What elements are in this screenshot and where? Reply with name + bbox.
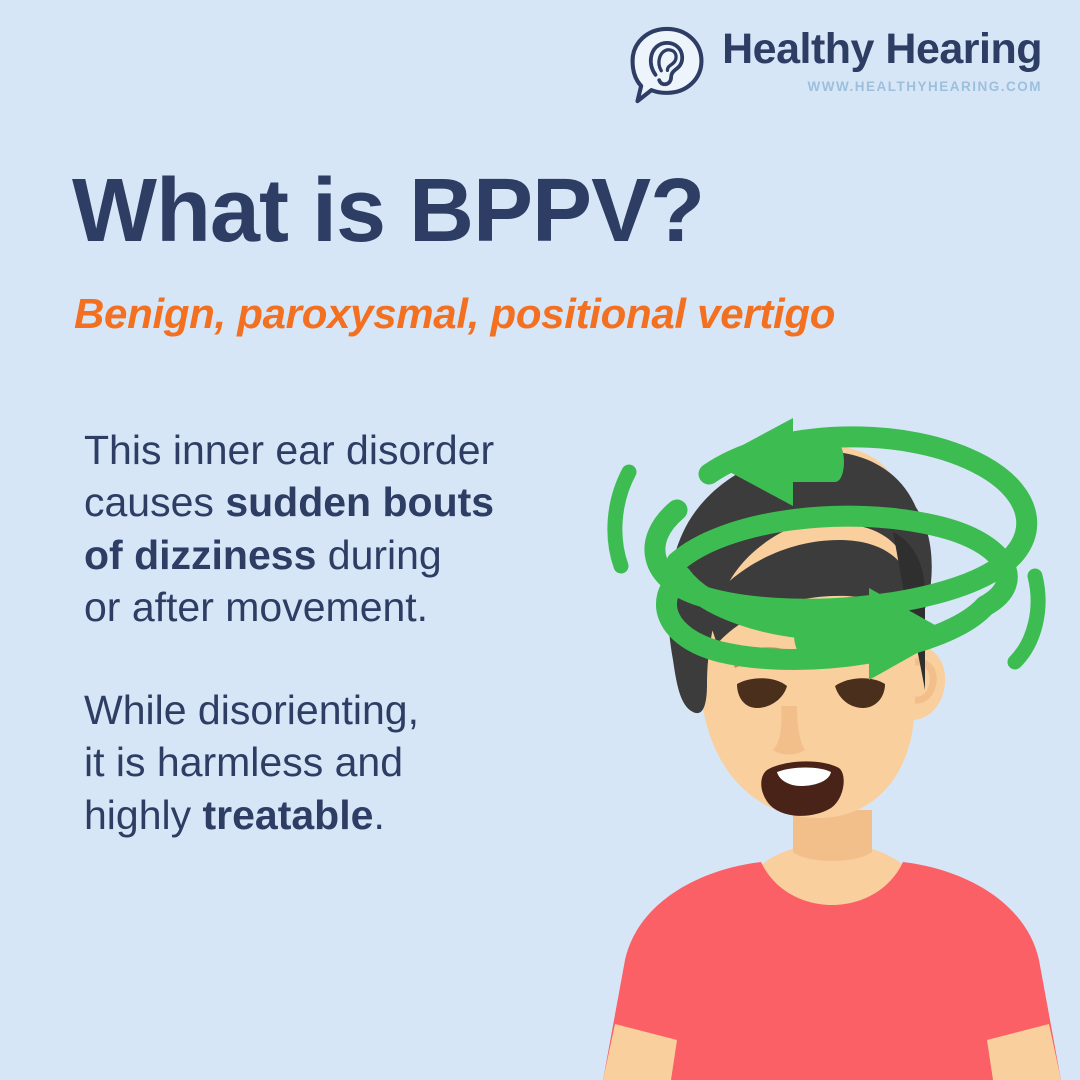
motion-mark-right bbox=[1015, 576, 1038, 662]
page-subtitle: Benign, paroxysmal, positional vertigo bbox=[74, 293, 835, 335]
p2-after: . bbox=[373, 792, 384, 838]
brand-url: WWW.HEALTHYHEARING.COM bbox=[808, 79, 1042, 94]
brand-text: Healthy Hearing WWW.HEALTHYHEARING.COM bbox=[722, 22, 1042, 94]
brand-name: Healthy Hearing bbox=[722, 28, 1042, 71]
ear-speech-bubble-icon bbox=[626, 24, 708, 106]
p2-bold: treatable bbox=[203, 792, 374, 838]
body-copy: This inner ear disorder causes sudden bo… bbox=[84, 424, 604, 841]
brand-logo[interactable]: Healthy Hearing WWW.HEALTHYHEARING.COM bbox=[626, 22, 1042, 106]
paragraph-2: While disorienting, it is harmless and h… bbox=[84, 684, 604, 841]
page-title: What is BPPV? bbox=[72, 166, 704, 256]
torso-group bbox=[603, 810, 1061, 1080]
infographic-canvas: Healthy Hearing WWW.HEALTHYHEARING.COM W… bbox=[0, 0, 1080, 1080]
motion-mark-left bbox=[615, 472, 629, 566]
dizzy-man-illustration bbox=[585, 400, 1080, 1080]
paragraph-1: This inner ear disorder causes sudden bo… bbox=[84, 424, 604, 634]
